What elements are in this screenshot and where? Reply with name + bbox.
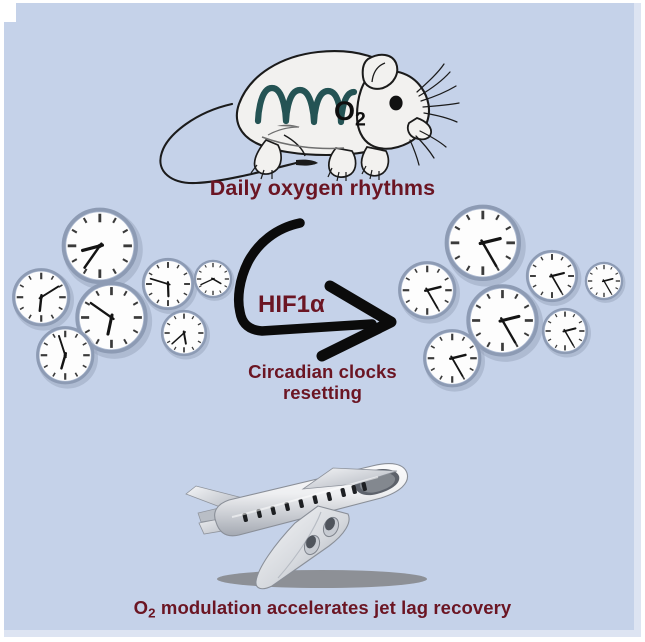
caption-o2-subscript: 2 bbox=[148, 606, 156, 621]
caption-o2-symbol: O bbox=[134, 597, 149, 618]
airplane-shadow bbox=[217, 570, 427, 588]
caption-o2-modulation: O2 modulation accelerates jet lag recove… bbox=[0, 598, 645, 622]
airplane-illustration bbox=[0, 0, 645, 642]
caption-o2-rest: modulation accelerates jet lag recovery bbox=[156, 597, 512, 618]
graphical-abstract: O2 Daily oxygen rhythms HIF1α Circadian … bbox=[0, 0, 645, 642]
